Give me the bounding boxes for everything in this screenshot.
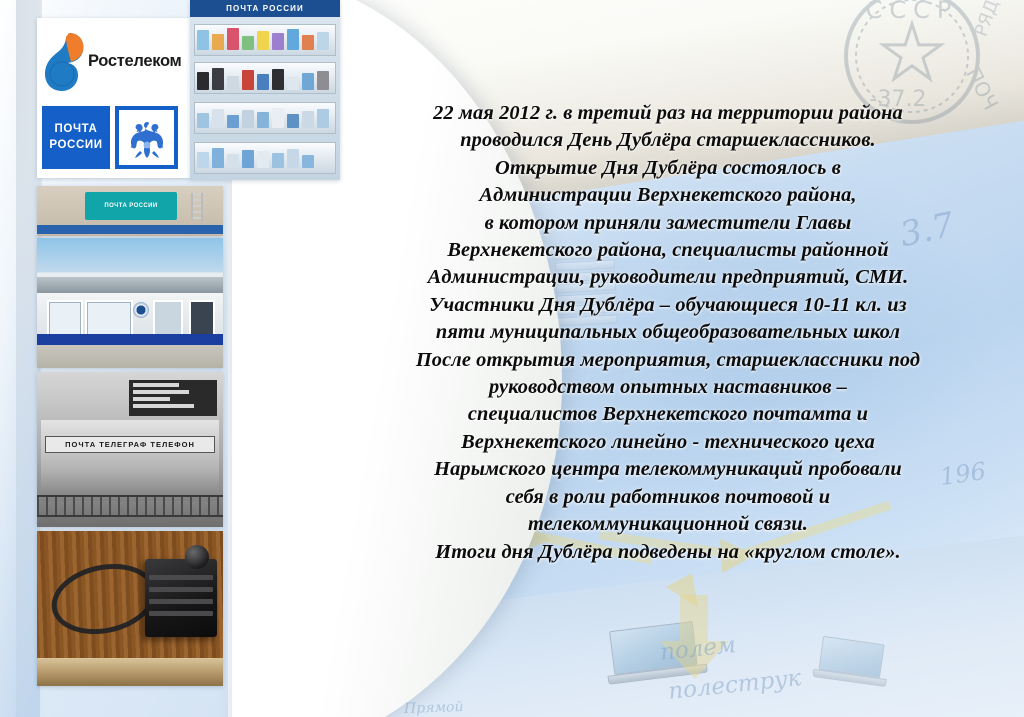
body-line: Участники Дня Дублёра – обучающиеся 10-1… [318,292,1018,319]
photo-post-office-building [37,238,223,368]
telephone-crank-knob [185,545,209,569]
pochta-line1: ПОЧТА [55,122,98,138]
network-arrow-icon [640,595,760,685]
pochta-line2: РОССИИ [49,138,102,154]
body-line: руководством опытных наставников – [318,374,1018,401]
photo-collage: Ростелеком ПОЧТА РОССИИ [37,0,282,717]
telephone-device [145,559,217,637]
rostelecom-wordmark: Ростелеком [88,52,181,71]
body-line: Нарымского центра телекоммуникаций пробо… [318,456,1018,483]
body-line: Итоги дня Дублёра подведены на «круглом … [318,539,1018,566]
body-line: проводился День Дублёра старшеклассников… [318,127,1018,154]
body-line: Администрации Верхнекетского района, [318,182,1018,209]
body-line: 22 мая 2012 г. в третий раз на территори… [318,100,1018,127]
photo-billboard: ПОЧТА РОССИИ [37,186,223,236]
pochta-rossii-wordmark: ПОЧТА РОССИИ [42,106,110,169]
rostelecom-logo: Ростелеком [37,18,190,104]
svg-text:РЯД: РЯД [971,0,1004,39]
body-line: специалистов Верхнекетского почтамта и [318,401,1018,428]
body-line: в котором приняли заместители Главы [318,210,1018,237]
photo-vintage-telephone [37,531,223,686]
logo-block: Ростелеком ПОЧТА РОССИИ [37,18,190,178]
body-line: телекоммуникационной связи. [318,511,1018,538]
body-line: себя в роли работников почтовой и [318,484,1018,511]
bw-building-sign-text: ПОЧТА ТЕЛЕГРАФ ТЕЛЕФОН [65,440,195,449]
photo-historic-bw-building: ПОЧТА ТЕЛЕГРАФ ТЕЛЕФОН [37,372,223,527]
billboard-sign-text: ПОЧТА РОССИИ [104,203,157,209]
double-headed-eagle-icon [122,113,172,163]
body-text-block: 22 мая 2012 г. в третий раз на территори… [318,100,1018,566]
rostelecom-ear-icon [42,29,86,93]
interior-sign-text: ПОЧТА РОССИИ [226,4,304,13]
body-line: Верхнекетского линейно - технического це… [318,429,1018,456]
presentation-slide: мин! а опорн ожайте е артиллер сама! Гор… [0,0,1024,717]
pochta-rossii-emblem [115,106,178,169]
body-line: Администрации, руководители предприятий,… [318,264,1018,291]
body-line: Открытие Дня Дублёра состоялось в [318,155,1018,182]
body-line: пяти муниципальных общеобразовательных ш… [318,319,1018,346]
body-line: После открытия мероприятия, старшеклассн… [318,347,1018,374]
laptop-icon [817,636,884,686]
body-line: Верхнекетского района, специалисты район… [318,237,1018,264]
